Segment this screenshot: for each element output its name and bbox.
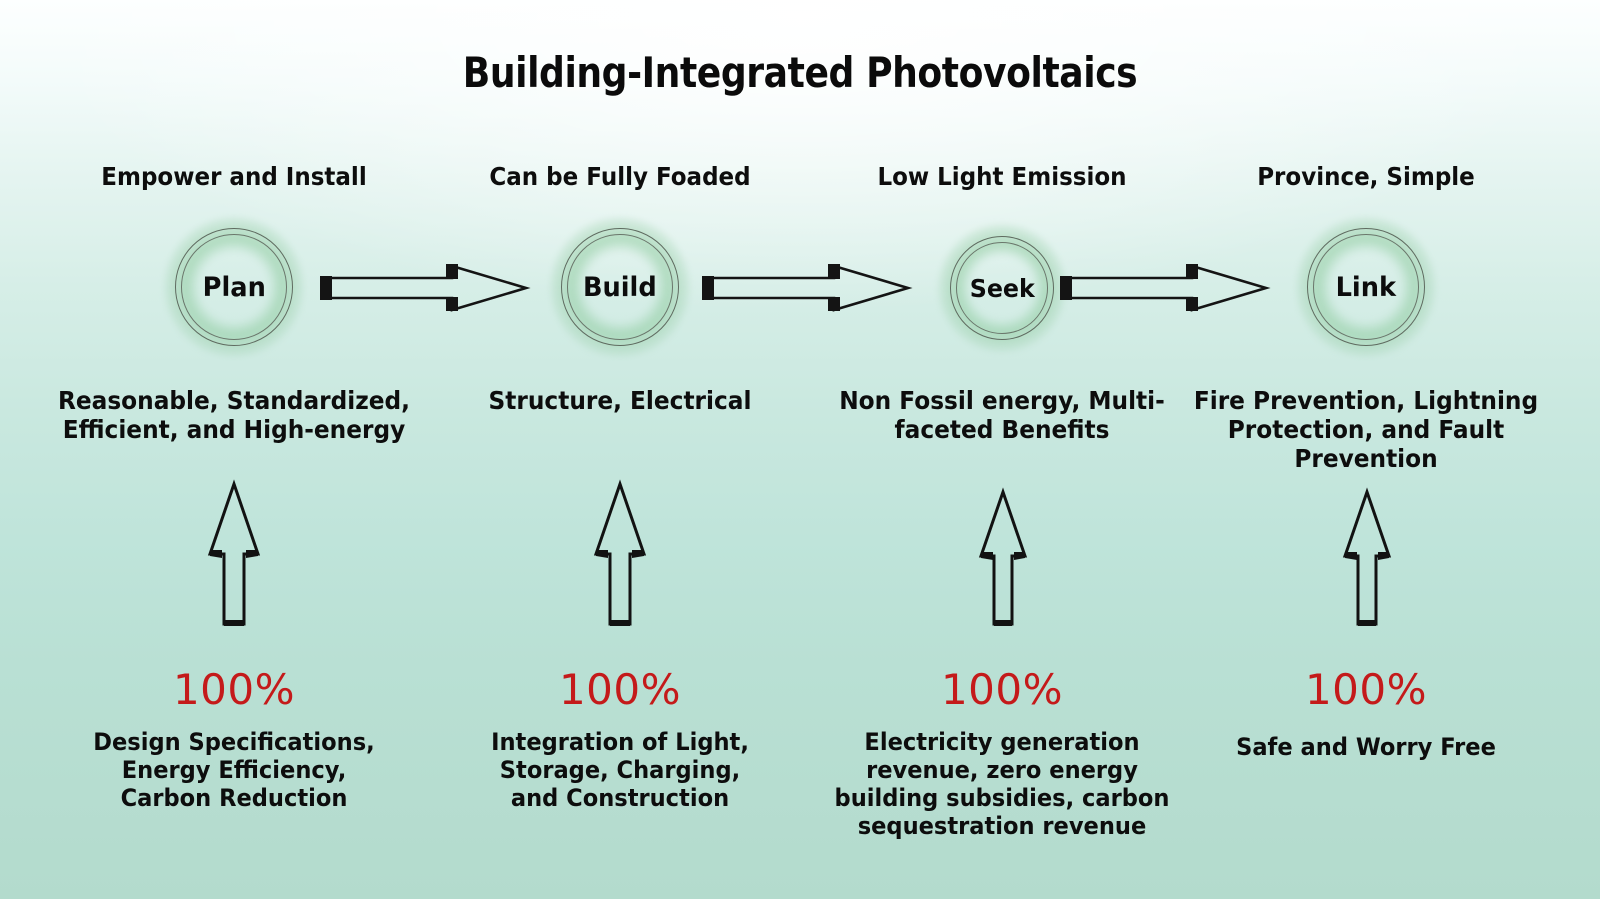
percent-build: 100% — [430, 665, 810, 714]
benefit-text-link: Fire Prevention, Lightning Protection, a… — [1189, 386, 1542, 473]
arrow-up-icon-plan — [202, 480, 266, 630]
detail-text-link: Safe and Worry Free — [1187, 733, 1544, 761]
percent-link: 100% — [1176, 665, 1556, 714]
node-circle-build[interactable]: Build — [561, 228, 679, 346]
column-link: Province, Simple Link Fire Prevention, L… — [1176, 0, 1556, 899]
column-heading-plan: Empower and Install — [59, 162, 409, 191]
column-build: Can be Fully Foaded Build Structure, Ele… — [430, 0, 810, 899]
node-label-build: Build — [583, 272, 657, 303]
detail-text-plan: Design Specifications, Energy Efficiency… — [55, 728, 412, 812]
detail-text-build: Integration of Light, Storage, Charging,… — [441, 728, 798, 812]
node-circle-link[interactable]: Link — [1307, 228, 1425, 346]
column-heading-link: Province, Simple — [1191, 162, 1541, 191]
arrow-up-icon-build — [588, 480, 652, 630]
column-plan: Empower and Install Plan Reasonable, Sta… — [44, 0, 424, 899]
node-circle-seek[interactable]: Seek — [950, 236, 1054, 340]
percent-seek: 100% — [812, 665, 1192, 714]
column-heading-seek: Low Light Emission — [827, 162, 1177, 191]
detail-text-seek: Electricity generation revenue, zero ene… — [823, 728, 1180, 840]
arrow-up-icon-link — [1338, 488, 1396, 630]
percent-plan: 100% — [44, 665, 424, 714]
benefit-text-build: Structure, Electrical — [443, 386, 796, 415]
benefit-text-plan: Reasonable, Standardized, Efficient, and… — [57, 386, 410, 444]
arrow-up-icon-seek — [974, 488, 1032, 630]
column-seek: Low Light Emission Seek Non Fossil energ… — [812, 0, 1192, 899]
node-circle-plan[interactable]: Plan — [175, 228, 293, 346]
node-label-seek: Seek — [969, 274, 1034, 303]
node-label-plan: Plan — [202, 272, 265, 303]
infographic-canvas: Building-Integrated Photovoltaics Empowe… — [0, 0, 1600, 899]
column-heading-build: Can be Fully Foaded — [445, 162, 795, 191]
benefit-text-seek: Non Fossil energy, Multi-faceted Benefit… — [825, 386, 1178, 444]
node-label-link: Link — [1336, 272, 1396, 303]
